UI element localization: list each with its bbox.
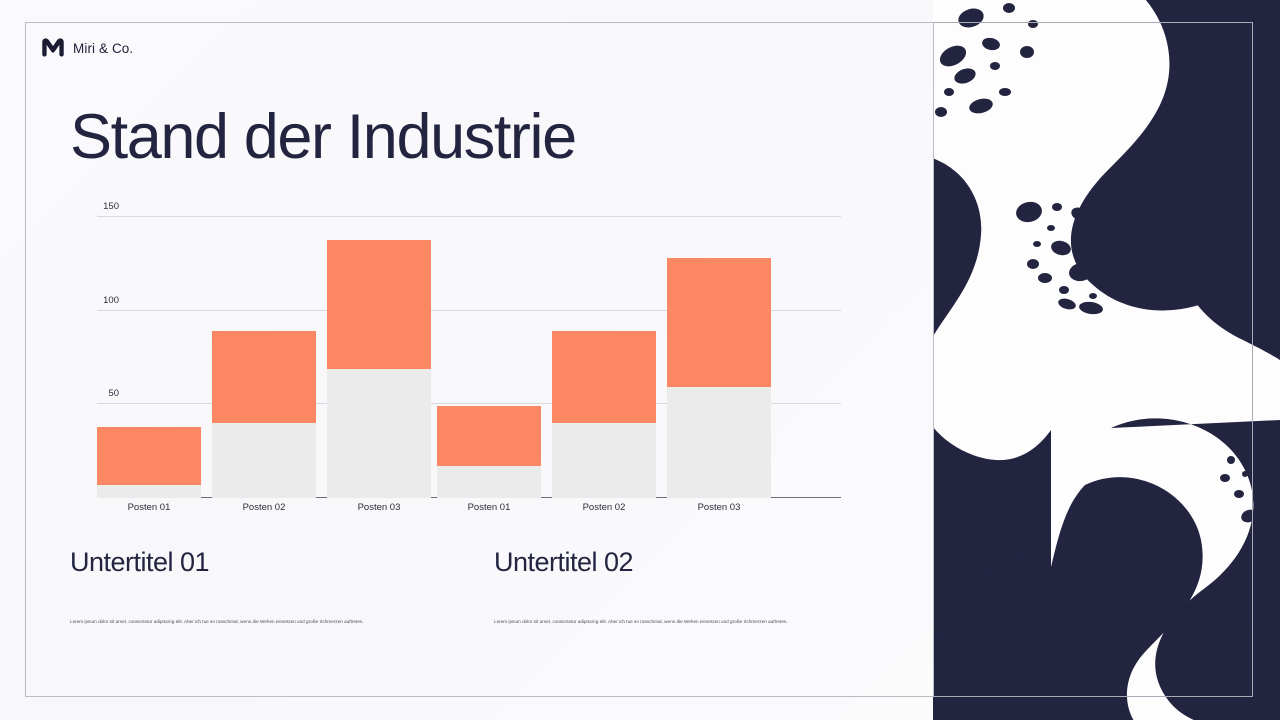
column-1-body: Lorem ipsum dolor sit amet, consectetur … [70, 618, 460, 625]
x-tick-label: Posten 01 [97, 502, 201, 513]
bar-posten-01-g2[interactable] [437, 217, 541, 498]
bar-segment-accent [212, 331, 316, 423]
bar-spacer [201, 217, 212, 498]
x-label-spacer [201, 502, 212, 513]
x-tick-label: Posten 02 [552, 502, 656, 513]
column-2: Untertitel 02 Lorem ipsum dolor sit amet… [494, 545, 884, 625]
x-tick-label: Posten 01 [437, 502, 541, 513]
x-tick-label: Posten 03 [327, 502, 431, 513]
bar-segment-accent [327, 240, 431, 369]
m-monogram-icon [42, 38, 64, 58]
bar-segment-accent [667, 258, 771, 387]
bar-segment-accent [437, 406, 541, 466]
column-1-subtitle: Untertitel 01 [70, 545, 460, 579]
slide-canvas: Miri & Co. Stand der Industrie 050100150… [0, 0, 1280, 720]
bar-posten-02-g2[interactable] [552, 217, 656, 498]
bar-segment-accent [97, 427, 201, 485]
bar-spacer [656, 217, 667, 498]
bar-segment-base [327, 369, 431, 498]
stacked-bar-chart: 050100150 Posten 01Posten 02Posten 03Pos… [70, 205, 860, 505]
x-label-spacer [541, 502, 552, 513]
x-label-spacer [316, 502, 327, 513]
bar-segment-base [667, 387, 771, 498]
bar-segment-base [552, 423, 656, 498]
brand-logo[interactable]: Miri & Co. [42, 38, 133, 58]
x-tick-label: Posten 03 [667, 502, 771, 513]
brand-name: Miri & Co. [73, 41, 133, 56]
column-1: Untertitel 01 Lorem ipsum dolor sit amet… [70, 545, 460, 625]
bar-segment-base [212, 423, 316, 498]
bar-spacer [316, 217, 327, 498]
bar-posten-03-g1[interactable] [327, 217, 431, 498]
bar-posten-01-g1[interactable] [97, 217, 201, 498]
chart-bars [97, 217, 841, 498]
column-2-subtitle: Untertitel 02 [494, 545, 884, 579]
decorative-blob-pattern [933, 0, 1280, 720]
x-label-spacer [656, 502, 667, 513]
bar-group [437, 217, 771, 498]
bar-segment-accent [552, 331, 656, 423]
column-2-body: Lorem ipsum dolor sit amet, consectetur … [494, 618, 884, 625]
page-title: Stand der Industrie [70, 99, 576, 175]
bar-segment-base [437, 466, 541, 498]
bar-group [97, 217, 431, 498]
bar-segment-base [97, 485, 201, 498]
x-tick-label: Posten 02 [212, 502, 316, 513]
bar-spacer [541, 217, 552, 498]
chart-x-axis: Posten 01Posten 02Posten 03Posten 01Post… [97, 502, 841, 513]
y-tick-label: 150 [59, 201, 119, 212]
chart-plot-area: 050100150 [97, 212, 841, 498]
bar-posten-03-g2[interactable] [667, 217, 771, 498]
bar-posten-02-g1[interactable] [212, 217, 316, 498]
